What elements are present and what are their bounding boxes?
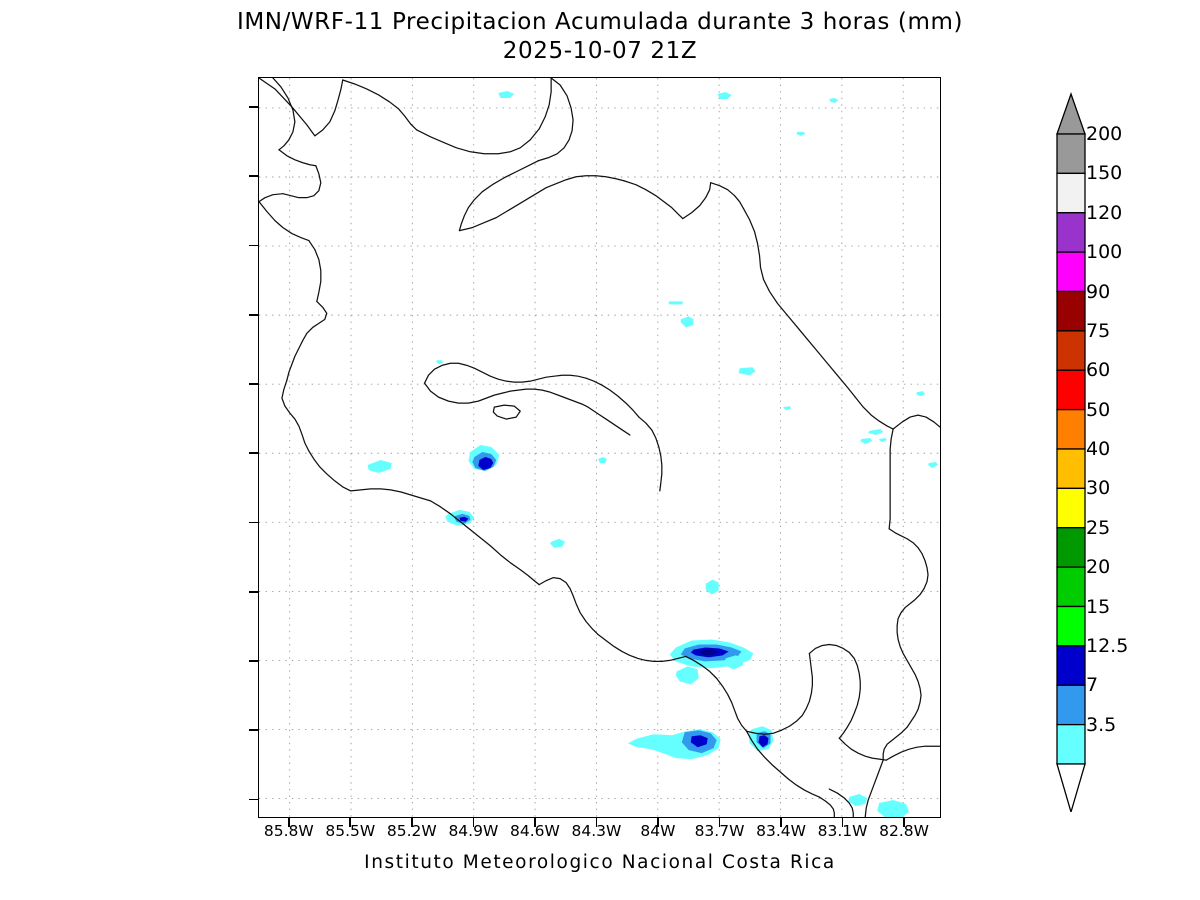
border-panama-north (889, 429, 893, 529)
colorbar-band[interactable] (1057, 449, 1085, 488)
precip-speck (928, 462, 938, 468)
colorbar-tick-label: 90 (1086, 281, 1110, 303)
coast-pacific-w (259, 194, 283, 202)
x-tick-label: 83.1W (818, 822, 868, 840)
colorbar-band[interactable] (1057, 292, 1085, 331)
map-plot-area[interactable] (258, 77, 941, 818)
x-tick-label: 82.8W (879, 822, 929, 840)
colorbar-tick-label: 200 (1086, 123, 1122, 145)
colorbar-tick-label: 30 (1086, 477, 1110, 499)
coast-burica-approach (839, 738, 886, 760)
coast-n-inland (459, 176, 624, 231)
coast-nicoya-inner-n (425, 383, 589, 407)
colorbar-band[interactable] (1057, 252, 1085, 291)
coast-n-lakeshore (343, 80, 417, 130)
colorbar-bands (1057, 94, 1085, 812)
coast-ne-notch (683, 183, 711, 219)
x-tick-label: 83.4W (756, 822, 806, 840)
precip-blob (877, 800, 909, 817)
colorbar-band[interactable] (1057, 725, 1085, 764)
coast-lake-south (459, 161, 538, 231)
colorbar-band[interactable] (1057, 646, 1085, 685)
coast-pacific-inlet (283, 166, 321, 198)
coast-pacific-gulf-top (279, 150, 316, 166)
colorbar-tick-label: 12.5 (1086, 635, 1128, 657)
precip-speck (796, 132, 805, 136)
coast-puntarenas (539, 578, 598, 635)
colorbar-tick-label: 7 (1086, 674, 1098, 696)
coast-salinas (259, 202, 309, 241)
colorbar-band[interactable] (1057, 134, 1085, 173)
precip-speck (681, 316, 694, 327)
colorbar-tick-label: 150 (1086, 162, 1122, 184)
precip-speck (783, 406, 791, 410)
x-tick-label: 84W (640, 822, 675, 840)
precip-speck (879, 438, 887, 442)
colorbar-band[interactable] (1057, 528, 1085, 567)
precip-blob (848, 794, 867, 806)
coast-pacific-nw-top (273, 78, 295, 150)
coastline-layer (259, 78, 940, 817)
precip-speck (498, 91, 514, 98)
precip-speck (739, 367, 756, 375)
coast-panama-pacific (886, 746, 940, 760)
precip-speck (868, 429, 883, 435)
coast-ne-descend (624, 181, 683, 219)
colorbar-band[interactable] (1057, 410, 1085, 449)
coast-caribbean-se (893, 415, 940, 429)
coast-caribbean-lower (855, 397, 893, 429)
coast-nicoya-inner-s (425, 363, 587, 383)
colorbar-svg (1046, 92, 1196, 812)
precip-blob (368, 460, 392, 473)
precip-speck (860, 438, 872, 444)
x-tick-label: 84.6W (510, 822, 560, 840)
colorbar-tick-label: 40 (1086, 438, 1110, 460)
colorbar-tick-label: 20 (1086, 556, 1110, 578)
colorbar-band[interactable] (1057, 607, 1085, 646)
colorbar-tick-label: 60 (1086, 359, 1110, 381)
precip-blob (550, 539, 565, 548)
colorbar-tick-label: 120 (1086, 202, 1122, 224)
coast-caribbean (744, 209, 856, 397)
coast-n-bay (417, 78, 552, 154)
colorbar-tick-label: 75 (1086, 320, 1110, 342)
x-tick-label: 85.2W (387, 822, 437, 840)
x-tick-label: 85.5W (325, 822, 375, 840)
coast-gulf-east (588, 407, 630, 435)
colorbar-tick-label: 25 (1086, 517, 1110, 539)
coast-nicoya-se (430, 501, 539, 585)
gridlines (259, 78, 940, 817)
colorbar-legend[interactable]: 3.5712.5152025304050607590100120150200 (1046, 92, 1196, 812)
colorbar-band[interactable] (1057, 685, 1085, 724)
colorbar-tick-label: 3.5 (1086, 714, 1116, 736)
x-tick-label: 83.7W (695, 822, 745, 840)
precipitation-contours (368, 91, 938, 817)
x-tick-label: 84.9W (448, 822, 498, 840)
map-canvas (259, 78, 940, 817)
isla-chira (493, 405, 520, 419)
source-footer: Instituto Meteorologico Nacional Costa R… (0, 852, 1200, 873)
coast-burica-tip-e (829, 789, 853, 817)
precip-speck (598, 457, 607, 463)
colorbar-band[interactable] (1057, 331, 1085, 370)
coast-golfo-dulce-e (809, 644, 860, 738)
colorbar-tick-label: 15 (1086, 596, 1110, 618)
precip-speck (829, 98, 838, 103)
border-panama-south (883, 529, 928, 760)
coast-burica-tip-w (819, 797, 834, 817)
coast-nw-upper (259, 78, 343, 136)
colorbar-tick-label: 50 (1086, 399, 1110, 421)
coast-nicoya-s (351, 489, 431, 501)
coast-nicoya-w (287, 301, 327, 380)
colorbar-band[interactable] (1057, 370, 1085, 409)
colorbar-band[interactable] (1057, 567, 1085, 606)
precip-speck (916, 391, 925, 396)
colorbar-under-arrow (1057, 764, 1085, 812)
colorbar-band[interactable] (1057, 488, 1085, 527)
coast-ne-point (711, 183, 744, 209)
precip-blob (706, 580, 719, 595)
colorbar-over-arrow (1057, 94, 1085, 134)
precip-blob (676, 666, 699, 684)
precipitation-map-page: IMN/WRF-11 Precipitacion Acumulada duran… (0, 0, 1200, 900)
x-tick-label: 84.3W (572, 822, 622, 840)
colorbar-tick-label: 100 (1086, 241, 1122, 263)
coast-gulf-ne-arm (639, 417, 662, 491)
precip-speck (718, 92, 732, 99)
precip-speck (669, 301, 683, 304)
x-tick-label: 85.8W (264, 822, 314, 840)
colorbar-band[interactable] (1057, 173, 1085, 212)
colorbar-band[interactable] (1057, 213, 1085, 252)
precip-speck (436, 360, 443, 364)
coast-nicoya-n (309, 241, 321, 302)
coast-nicoya-sw (282, 380, 351, 491)
coast-golfo-dulce-w (747, 653, 813, 734)
